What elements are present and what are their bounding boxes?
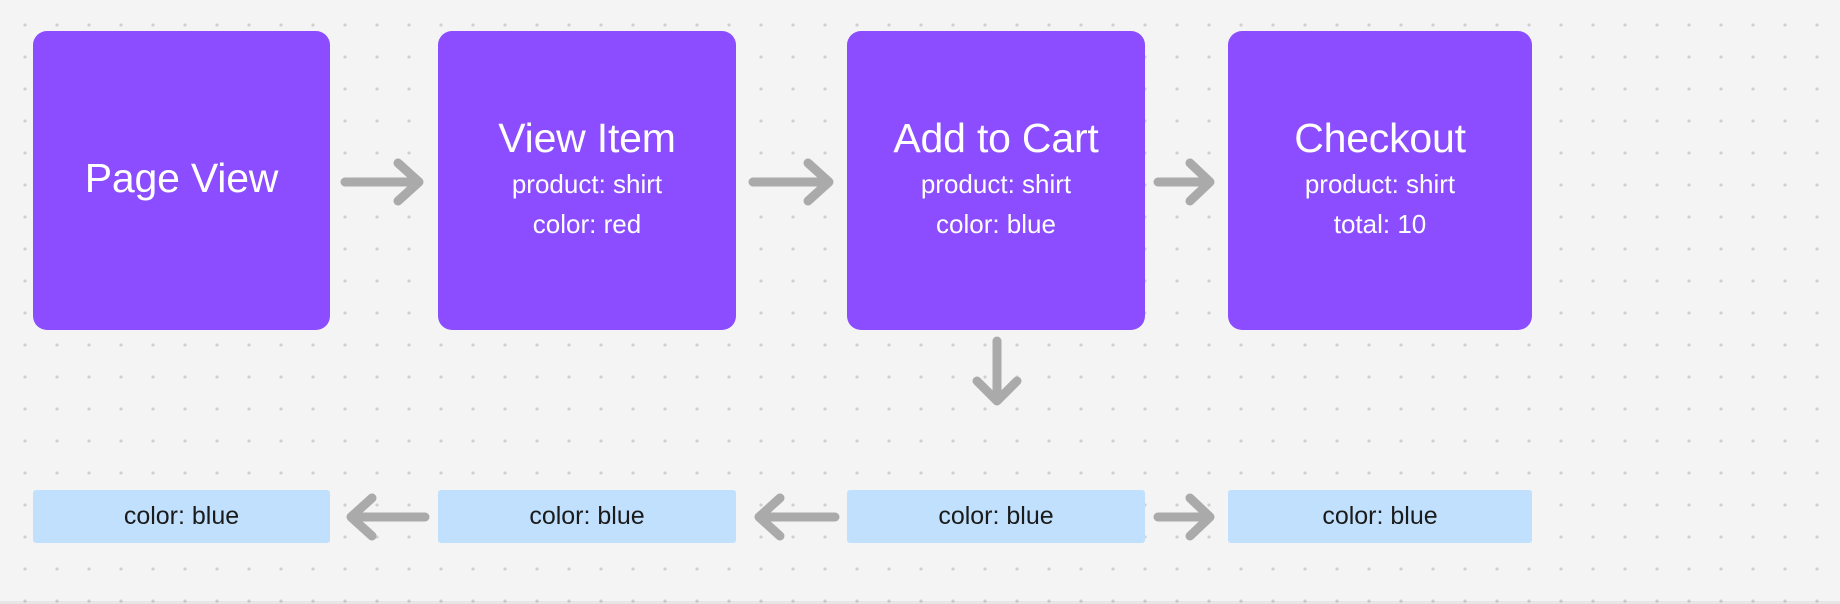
node-page-view[interactable]: Page View: [33, 31, 330, 330]
node-property: product: shirt: [921, 164, 1071, 204]
pill-label: color: blue: [124, 502, 239, 531]
node-title: View Item: [498, 117, 675, 160]
node-property: product: shirt: [1305, 164, 1455, 204]
pill-label: color: blue: [938, 502, 1053, 531]
pill-color-blue-1[interactable]: color: blue: [33, 490, 330, 543]
node-properties: product: shirt total: 10: [1305, 164, 1455, 244]
node-property: color: red: [533, 204, 641, 244]
node-property: total: 10: [1334, 204, 1427, 244]
arrow-add-to-cart-to-checkout[interactable]: [1153, 157, 1221, 207]
pill-label: color: blue: [529, 502, 644, 531]
arrow-view-item-to-add-to-cart[interactable]: [748, 157, 840, 207]
flow-canvas[interactable]: Page View View Item product: shirt color…: [0, 0, 1840, 604]
node-title: Page View: [85, 157, 278, 200]
arrow-pill-3-to-pill-2[interactable]: [748, 492, 840, 542]
node-view-item[interactable]: View Item product: shirt color: red: [438, 31, 736, 330]
pill-color-blue-4[interactable]: color: blue: [1228, 490, 1532, 543]
pill-color-blue-2[interactable]: color: blue: [438, 490, 736, 543]
node-property: product: shirt: [512, 164, 662, 204]
node-properties: product: shirt color: blue: [921, 164, 1071, 244]
node-title: Checkout: [1294, 117, 1466, 160]
node-property: color: blue: [936, 204, 1056, 244]
pill-label: color: blue: [1322, 502, 1437, 531]
node-checkout[interactable]: Checkout product: shirt total: 10: [1228, 31, 1532, 330]
node-title: Add to Cart: [893, 117, 1098, 160]
node-properties: product: shirt color: red: [512, 164, 662, 244]
arrow-page-view-to-view-item[interactable]: [340, 157, 430, 207]
arrow-pill-2-to-pill-1[interactable]: [340, 492, 430, 542]
arrow-add-to-cart-to-pill-3[interactable]: [965, 336, 1029, 416]
node-add-to-cart[interactable]: Add to Cart product: shirt color: blue: [847, 31, 1145, 330]
pill-color-blue-3[interactable]: color: blue: [847, 490, 1145, 543]
arrow-pill-3-to-pill-4[interactable]: [1153, 492, 1221, 542]
